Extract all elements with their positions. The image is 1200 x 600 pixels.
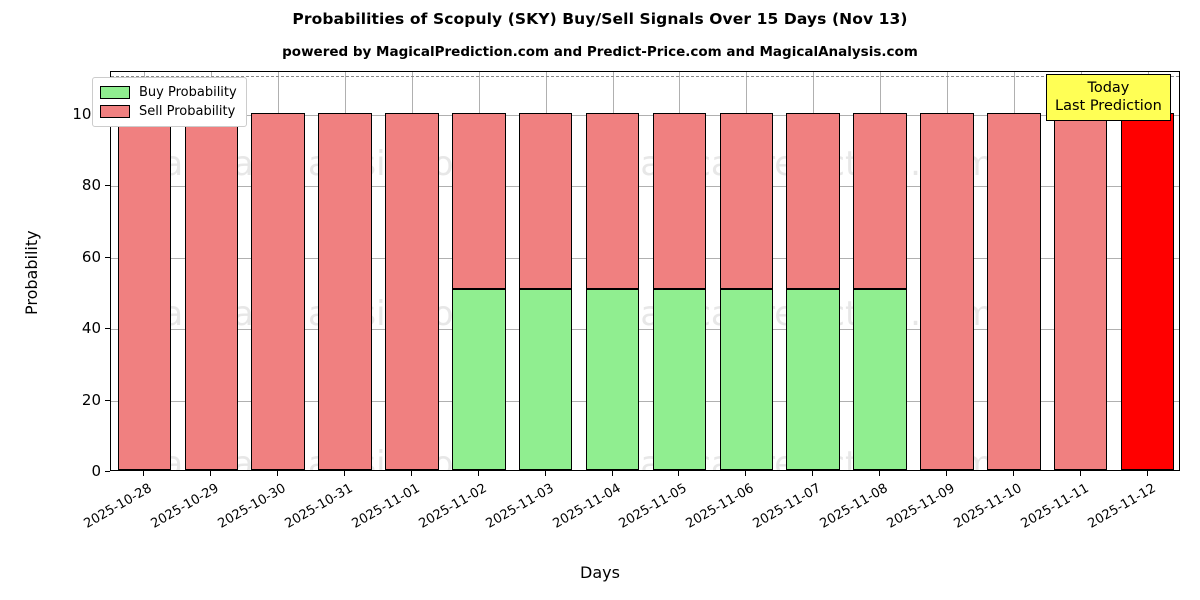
bar-group[interactable]	[385, 71, 439, 470]
bar-segment[interactable]	[653, 289, 707, 470]
y-tick-mark	[105, 400, 110, 401]
x-tick-mark	[277, 471, 278, 476]
x-tick-mark	[545, 471, 546, 476]
today-annotation-line2: Last Prediction	[1055, 97, 1162, 115]
bar-segment[interactable]	[1054, 113, 1108, 470]
y-tick-mark	[105, 185, 110, 186]
y-tick-label: 40	[41, 319, 101, 337]
bar-segment[interactable]	[185, 113, 239, 470]
x-tick-mark	[1147, 471, 1148, 476]
bar-segment[interactable]	[385, 113, 439, 470]
y-tick-mark	[105, 471, 110, 472]
bar-segment[interactable]	[720, 289, 774, 470]
y-tick-label: 60	[41, 248, 101, 266]
bar-segment[interactable]	[653, 113, 707, 289]
x-tick-mark	[344, 471, 345, 476]
y-tick-label: 0	[41, 462, 101, 480]
legend-item-label: Buy Probability	[139, 85, 237, 100]
chart-title: Probabilities of Scopuly (SKY) Buy/Sell …	[0, 10, 1200, 28]
legend-item[interactable]: Buy Probability	[100, 83, 237, 102]
today-annotation-line1: Today	[1055, 79, 1162, 97]
x-tick-mark	[1013, 471, 1014, 476]
bar-group[interactable]	[920, 71, 974, 470]
bar-segment[interactable]	[519, 289, 573, 470]
chart-legend[interactable]: Buy ProbabilitySell Probability	[92, 77, 247, 127]
bar-group[interactable]	[1054, 71, 1108, 470]
x-tick-mark	[745, 471, 746, 476]
y-tick-mark	[105, 328, 110, 329]
bar-segment[interactable]	[318, 113, 372, 470]
bar-group[interactable]	[118, 71, 172, 470]
bar-group[interactable]	[318, 71, 372, 470]
x-axis-label: Days	[0, 563, 1200, 582]
bar-segment[interactable]	[853, 289, 907, 470]
bar-segment[interactable]	[586, 113, 640, 289]
y-tick-label: 80	[41, 176, 101, 194]
bar-group[interactable]	[786, 71, 840, 470]
bar-segment[interactable]	[1121, 113, 1175, 470]
x-tick-mark	[812, 471, 813, 476]
bar-segment[interactable]	[452, 289, 506, 470]
bar-group[interactable]	[853, 71, 907, 470]
bar-group[interactable]	[1121, 71, 1175, 470]
legend-item[interactable]: Sell Probability	[100, 102, 237, 121]
bar-segment[interactable]	[586, 289, 640, 470]
bar-segment[interactable]	[251, 113, 305, 470]
bar-group[interactable]	[452, 71, 506, 470]
bar-segment[interactable]	[786, 289, 840, 470]
bar-group[interactable]	[519, 71, 573, 470]
bar-group[interactable]	[251, 71, 305, 470]
plot-area: MagicalAnalysis.comMagicalPrediction.com…	[110, 71, 1180, 471]
x-tick-mark	[678, 471, 679, 476]
bar-group[interactable]	[720, 71, 774, 470]
legend-swatch-icon	[100, 86, 130, 99]
x-tick-mark	[612, 471, 613, 476]
x-tick-mark	[879, 471, 880, 476]
bar-segment[interactable]	[519, 113, 573, 289]
bar-segment[interactable]	[987, 113, 1041, 470]
legend-item-label: Sell Probability	[139, 104, 235, 119]
bar-segment[interactable]	[118, 113, 172, 470]
bar-group[interactable]	[987, 71, 1041, 470]
bar-segment[interactable]	[786, 113, 840, 289]
x-tick-mark	[411, 471, 412, 476]
chart-subtitle: powered by MagicalPrediction.com and Pre…	[0, 44, 1200, 60]
y-axis-label: Probability	[22, 230, 41, 315]
bar-segment[interactable]	[720, 113, 774, 289]
bar-group[interactable]	[185, 71, 239, 470]
x-tick-mark	[210, 471, 211, 476]
y-tick-mark	[105, 257, 110, 258]
x-tick-mark	[143, 471, 144, 476]
reference-line	[111, 76, 1179, 77]
x-tick-mark	[946, 471, 947, 476]
x-tick-mark	[478, 471, 479, 476]
bar-group[interactable]	[586, 71, 640, 470]
bar-segment[interactable]	[853, 113, 907, 289]
bar-segment[interactable]	[920, 113, 974, 470]
legend-swatch-icon	[100, 105, 130, 118]
y-tick-label: 20	[41, 391, 101, 409]
bar-group[interactable]	[653, 71, 707, 470]
x-tick-mark	[1080, 471, 1081, 476]
bar-segment[interactable]	[452, 113, 506, 289]
today-annotation: Today Last Prediction	[1046, 74, 1171, 121]
chart-figure: Probabilities of Scopuly (SKY) Buy/Sell …	[0, 0, 1200, 600]
